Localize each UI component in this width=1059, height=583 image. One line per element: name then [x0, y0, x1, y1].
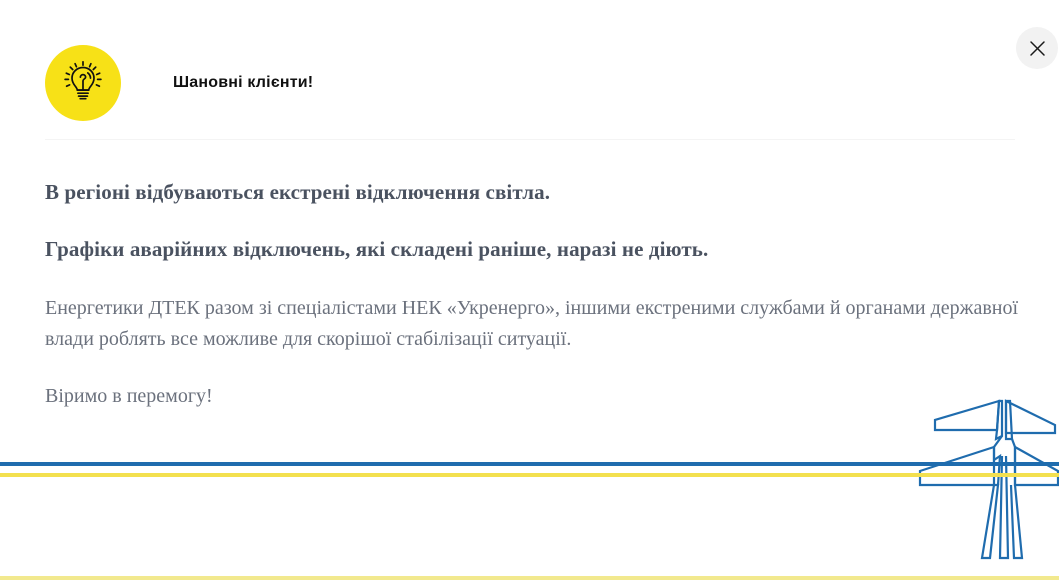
close-icon — [1029, 40, 1046, 57]
paragraph-schedules-inactive: Графіки аварійних відключень, які складе… — [45, 235, 1025, 263]
dialog-header: Шановні клієнти! — [45, 36, 1015, 130]
notification-dialog: Шановні клієнти! В регіоні відбуваються … — [0, 0, 1059, 583]
dialog-body: В регіоні відбуваються екстрені відключе… — [45, 178, 1025, 412]
dialog-title: Шановні клієнти! — [173, 74, 313, 92]
decorative-yellow-line-bottom — [0, 576, 1059, 580]
paragraph-dtek-ukrenergo: Енергетики ДТЕК разом зі спеціалістами Н… — [45, 293, 1020, 355]
decorative-yellow-line — [0, 473, 1059, 477]
close-button[interactable] — [1016, 27, 1058, 69]
lightbulb-icon — [45, 45, 121, 121]
header-divider — [45, 139, 1015, 140]
paragraph-victory: Віримо в перемогу! — [45, 381, 1020, 412]
power-tower-icon — [918, 392, 1059, 567]
decorative-blue-line — [0, 462, 1059, 466]
paragraph-emergency-outages: В регіоні відбуваються екстрені відключе… — [45, 178, 1025, 206]
